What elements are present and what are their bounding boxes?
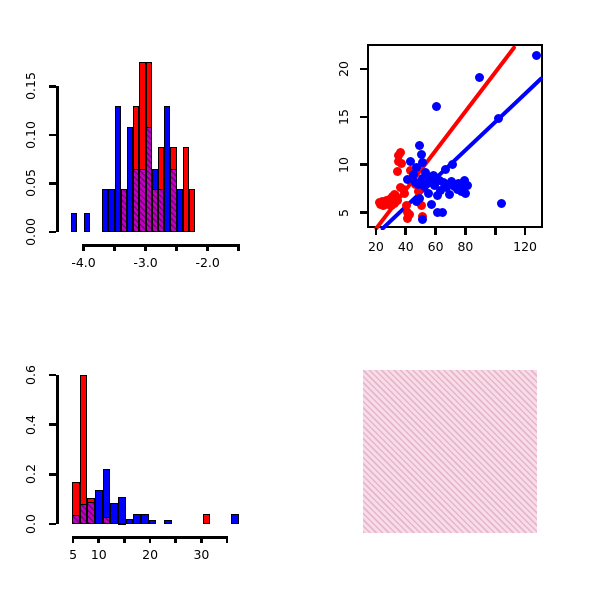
x-axis-tick [494,228,497,235]
scatter-point [418,215,427,224]
y-axis-line [56,86,59,232]
x-axis-tick-label: -3.0 [121,255,171,270]
y-axis-tick [49,374,56,377]
scatter-point [387,201,396,210]
x-axis-tick-label: 20 [125,547,175,562]
histogram-bar [141,514,149,524]
scatter-point [497,199,506,208]
y-axis-tick [360,211,367,214]
histogram-bar [231,514,239,524]
scatter-plot-box [367,44,543,228]
intensity-histogram-plot-area: 0.00.20.40.65102030 [0,300,300,600]
x-axis-tick [404,228,407,235]
x-axis-tick [206,244,209,251]
scatter-point [415,141,424,150]
y-axis-tick-label: 0.00 [22,216,40,248]
histogram-bar [203,514,211,524]
y-axis-tick-label: 15 [335,103,353,131]
y-axis-tick-label: 0.4 [22,409,40,441]
x-axis-tick-label: 10 [74,547,124,562]
scatter-point [424,189,433,198]
x-axis-line [84,244,239,247]
y-axis-tick-label: 0.2 [22,458,40,490]
histogram-bar [164,520,172,524]
scatter-point [494,114,503,123]
x-axis-tick-label: -4.0 [59,255,109,270]
y-axis-tick [49,231,56,234]
y-axis-tick [49,134,56,137]
x-axis-tick [226,536,229,543]
y-axis-tick [360,116,367,119]
histogram-bar-overlap [87,502,95,524]
y-axis-tick-label: 10 [335,151,353,179]
y-axis-line [56,375,59,524]
x-axis-tick [82,244,85,251]
ratio-histogram-plot-area: 0.000.050.100.15-4.0-3.0-2.0 [0,0,300,300]
scatter-point [475,73,484,82]
scatter-plot-area: 510152020406080120 [300,0,600,300]
scatter-point [432,102,441,111]
x-axis-tick [174,536,177,543]
x-axis-tick-label: 80 [440,239,490,254]
y-axis-tick [49,473,56,476]
x-axis-tick [72,536,75,543]
x-axis-tick [113,244,116,251]
histogram-bar [84,213,90,232]
y-axis-tick [49,182,56,185]
x-axis-tick [97,536,100,543]
histogram-bar-overlap [118,523,126,525]
histogram-bar [95,490,103,524]
histogram-bar [118,497,126,524]
histogram-bar-overlap [103,517,111,524]
histogram-bar [80,375,88,524]
y-axis-tick-label: 0.05 [22,167,40,199]
y-axis-tick [49,85,56,88]
histogram-bar [71,213,77,232]
histogram-bar [149,520,157,524]
scatter-point [396,148,405,157]
y-axis-tick [360,163,367,166]
scatter-point [405,210,414,219]
y-axis-tick [49,523,56,526]
scatter-clip-region [369,46,545,230]
x-axis-tick [375,228,378,235]
histogram-bar [110,503,118,524]
scatter-point [448,160,457,169]
intensity-histogram-panel: 0.00.20.40.65102030 [0,300,300,600]
histogram-bar-overlap [80,504,88,524]
scatter-point [390,190,399,199]
info-panel [363,370,537,533]
scatter-point [532,51,541,60]
histogram-bar [189,189,195,232]
histogram-bar [133,514,141,524]
x-axis-tick [524,228,527,235]
x-axis-tick [434,228,437,235]
x-axis-tick-label: -2.0 [183,255,233,270]
histogram-bar [126,519,134,524]
scatter-point [461,189,470,198]
scatter-point [393,167,402,176]
x-axis-tick [149,536,152,543]
y-axis-tick-label: 0.6 [22,359,40,391]
y-axis-tick [49,423,56,426]
x-axis-tick-label: 120 [500,239,550,254]
x-axis-tick [123,536,126,543]
x-axis-tick [175,244,178,251]
info-panel-container [300,300,600,600]
scatter-point [400,189,409,198]
scatter-point [427,200,436,209]
x-axis-tick [237,244,240,251]
ratio-histogram-panel: 0.000.050.100.15-4.0-3.0-2.0 [0,0,300,300]
y-axis-tick-label: 5 [335,199,353,227]
histogram-bar-overlap [72,515,80,524]
scatter-point [463,181,472,190]
x-axis-tick [464,228,467,235]
scatter-panel: 510152020406080120 [300,0,600,300]
y-axis-tick [360,68,367,71]
x-axis-tick [144,244,147,251]
x-axis-tick-label: 30 [176,547,226,562]
y-axis-tick-label: 0.15 [22,70,40,102]
y-axis-tick-label: 0.10 [22,119,40,151]
y-axis-tick-label: 0.0 [22,508,40,540]
x-axis-tick [200,536,203,543]
y-axis-tick-label: 20 [335,55,353,83]
